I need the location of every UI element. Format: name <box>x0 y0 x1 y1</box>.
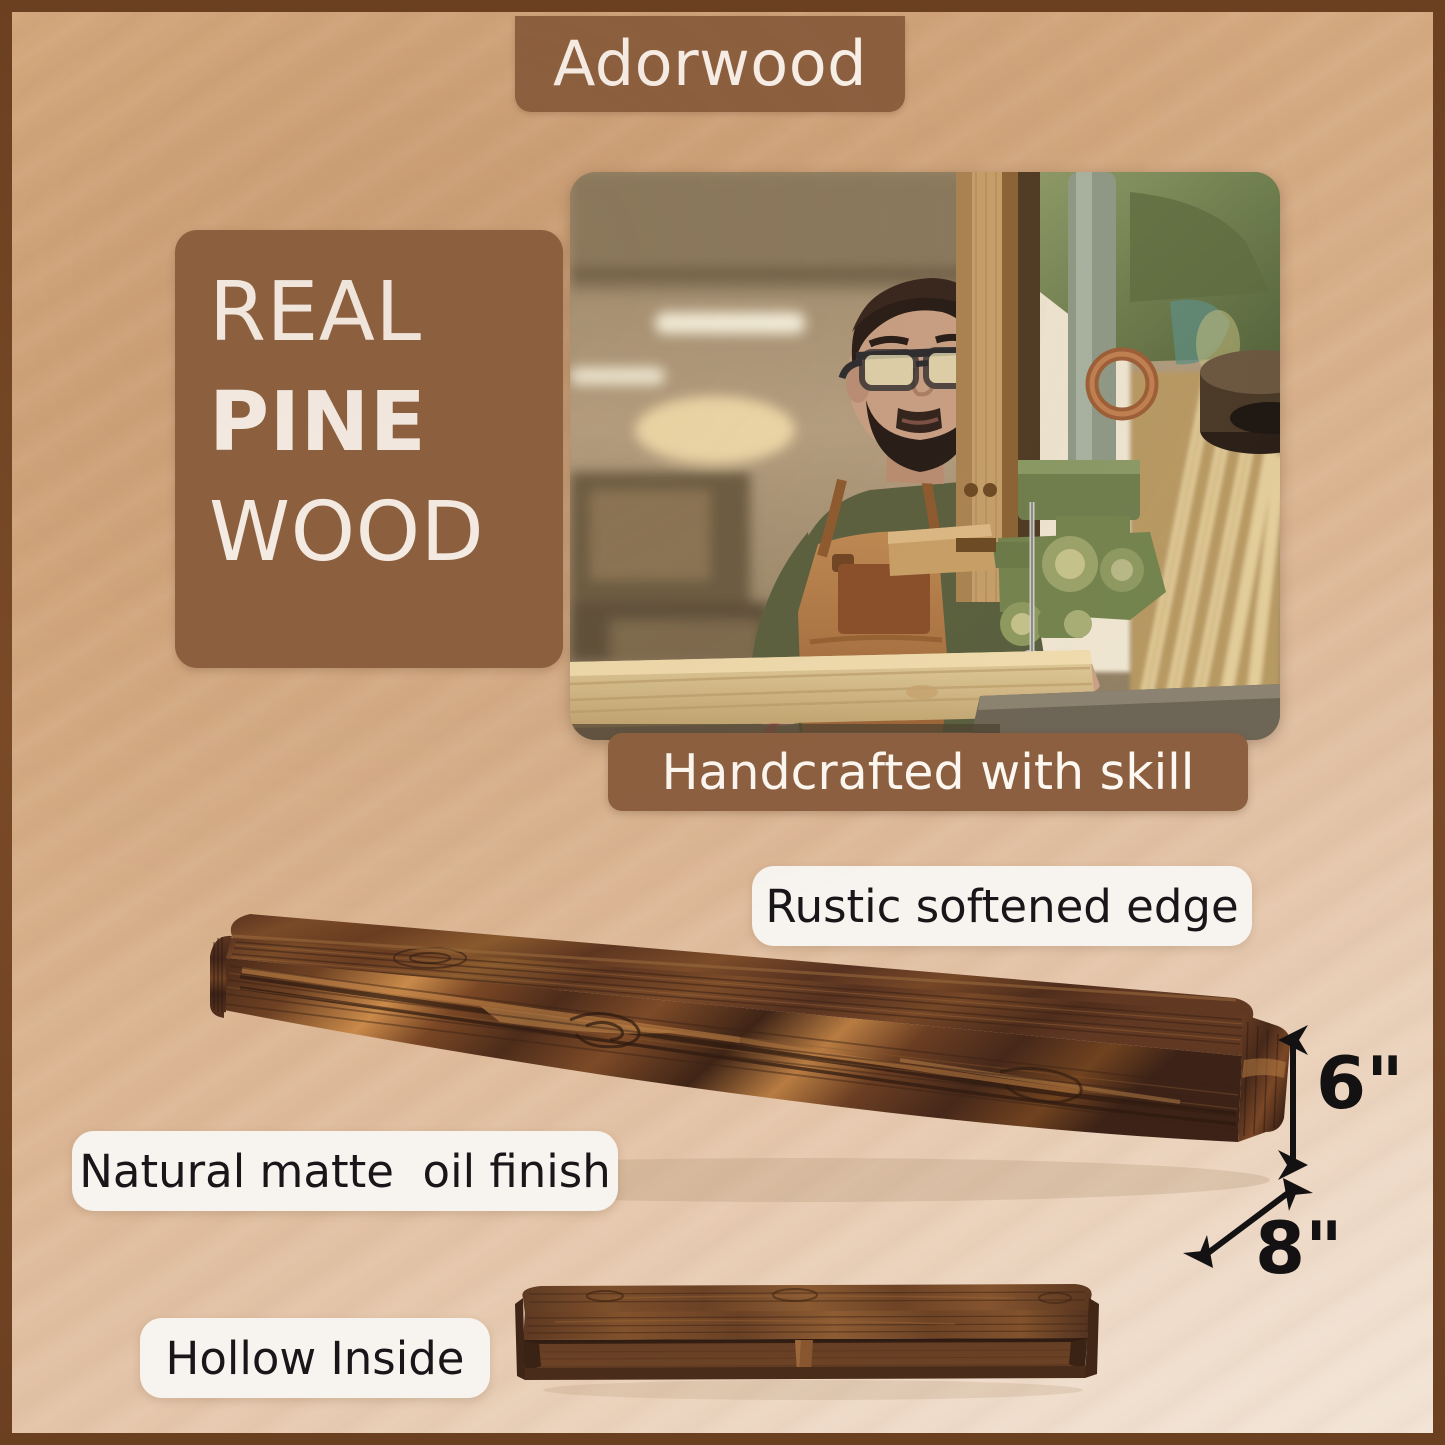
hollow-beam-product <box>495 1268 1115 1408</box>
callout-label: Natural matte oil finish <box>79 1149 610 1194</box>
craftsman-photo <box>570 172 1280 740</box>
callout-hollow-inside: Hollow Inside <box>140 1318 490 1398</box>
claim-line-wood: WOOD <box>209 478 563 588</box>
infographic-canvas: Adorwood REAL PINE WOOD Handcrafted with… <box>12 12 1433 1433</box>
depth-dimension-label: 8" <box>1255 1212 1343 1284</box>
callout-rustic-softened-edge: Rustic softened edge <box>752 866 1252 946</box>
brand-badge: Adorwood <box>515 16 905 112</box>
product-infographic: Adorwood REAL PINE WOOD Handcrafted with… <box>0 0 1445 1445</box>
callout-label: Rustic softened edge <box>765 884 1238 929</box>
callout-natural-matte-oil-finish: Natural matte oil finish <box>72 1131 618 1211</box>
real-pine-wood-block: REAL PINE WOOD <box>175 230 563 668</box>
craftsman-photo-illustration <box>570 172 1280 740</box>
photo-caption-badge: Handcrafted with skill <box>608 733 1248 811</box>
photo-caption-text: Handcrafted with skill <box>662 748 1195 797</box>
claim-line-pine: PINE <box>209 368 563 478</box>
claim-line-real: REAL <box>209 258 563 368</box>
height-dimension-label: 6" <box>1316 1047 1404 1119</box>
brand-name: Adorwood <box>553 33 867 95</box>
callout-label: Hollow Inside <box>165 1336 464 1381</box>
hollow-beam-illustration <box>495 1268 1115 1408</box>
